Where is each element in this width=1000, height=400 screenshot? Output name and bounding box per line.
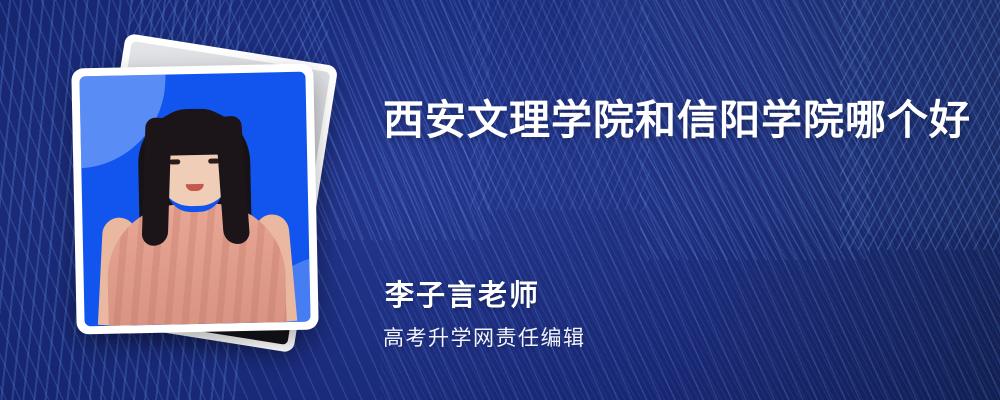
author-role: 高考升学网责任编辑 <box>383 322 586 352</box>
portrait-figure <box>79 72 310 327</box>
portrait-hair-left <box>142 117 172 246</box>
author-name: 李子言老师 <box>385 272 540 314</box>
portrait-dress <box>106 202 286 326</box>
avatar <box>79 72 310 327</box>
page-title: 西安文理学院和信阳学院哪个好 <box>383 97 971 144</box>
article-header-banner: 西安文理学院和信阳学院哪个好 李子言老师 高考升学网责任编辑 <box>0 0 1000 400</box>
photo-front-card <box>71 63 319 334</box>
author-photo-stack <box>60 40 360 360</box>
portrait-mouth <box>186 184 204 191</box>
portrait-eye-left <box>169 159 180 164</box>
